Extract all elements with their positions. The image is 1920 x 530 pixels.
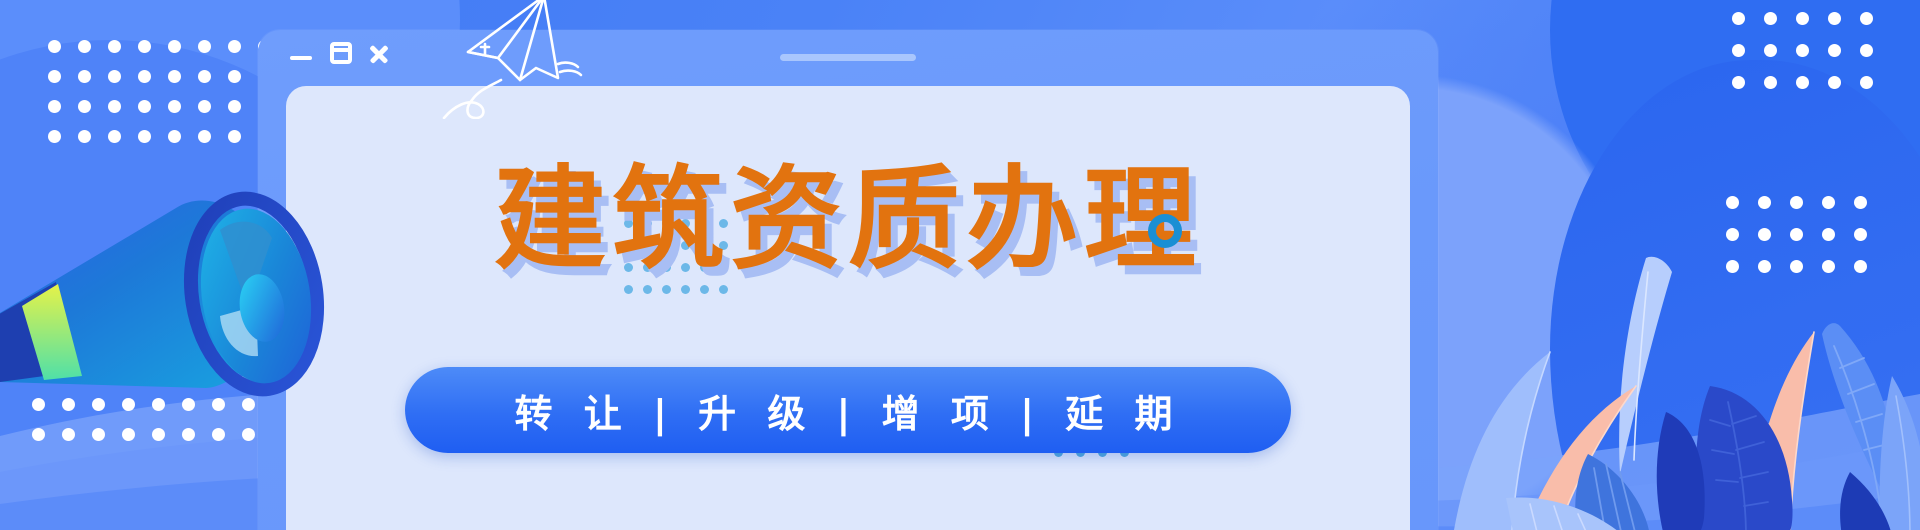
ring-icon-right	[1148, 214, 1182, 248]
megaphone-icon	[0, 120, 350, 420]
services-pill[interactable]: 转 让 | 升 级 | 增 项 | 延 期	[405, 367, 1291, 453]
close-icon[interactable]	[368, 44, 388, 64]
minimize-icon[interactable]	[290, 56, 312, 60]
headline-container: 建筑资质办理	[286, 154, 1410, 286]
services-pill-label: 转 让 | 升 级 | 增 项 | 延 期	[515, 383, 1182, 438]
plant-leaves-icon	[1410, 206, 1920, 530]
dot-grid-top-right	[1732, 12, 1892, 108]
page-title: 建筑资质办理	[494, 154, 1202, 286]
paper-plane-icon	[428, 0, 618, 119]
maximize-icon[interactable]	[330, 42, 352, 64]
content-card: 建筑资质办理 转 让 | 升 级 | 增 项 | 延 期	[286, 86, 1410, 530]
banner-root: 建筑资质办理 转 让 | 升 级 | 增 项 | 延 期	[0, 0, 1920, 530]
titlebar-tab-indicator	[780, 54, 916, 61]
